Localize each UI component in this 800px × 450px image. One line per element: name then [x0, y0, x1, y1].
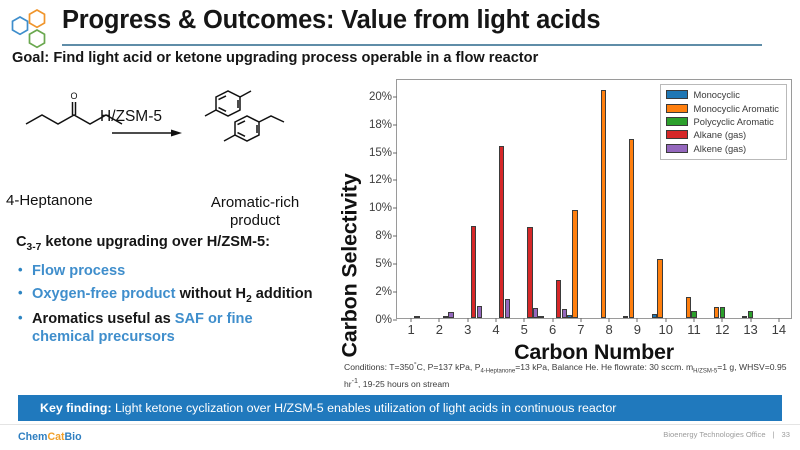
chart-bar: [629, 139, 634, 318]
body-heading-subscript: 3-7: [27, 242, 42, 253]
chart-bar: [556, 280, 561, 319]
chart-x-tick-mark: [694, 318, 695, 322]
chart-bar: [477, 306, 482, 318]
chart-bar: [414, 316, 419, 318]
bullet-marker-icon: •: [18, 310, 23, 327]
brand-chem: Chem: [18, 431, 47, 443]
chart-x-tick-label: 8: [606, 322, 613, 337]
footer-divider-glyph: |: [773, 430, 775, 439]
reaction-scheme: O H/: [4, 84, 324, 214]
goal-statement: Goal: Find light acid or ketone upgradin…: [12, 50, 792, 66]
conditions-sub-catalyst: H/ZSM-5: [693, 369, 717, 375]
chart-bar: [567, 315, 572, 318]
chart-x-tick-mark: [411, 318, 412, 322]
body-heading-pre: C: [16, 234, 27, 250]
chart-legend-label: Monocyclic Aromatic: [694, 103, 779, 114]
page-number: 33: [782, 430, 790, 439]
chart-x-tick-label: 9: [634, 322, 641, 337]
footer-brand: ChemCatBio: [18, 428, 82, 446]
chart-legend-swatch: [666, 117, 688, 126]
chart-legend-item: Polycyclic Aromatic: [666, 115, 779, 128]
chart-x-tick-label: 5: [521, 322, 528, 337]
chart-y-tick-mark: [393, 320, 397, 321]
bullet-marker-icon: •: [18, 262, 23, 279]
chart-x-tick-label: 11: [687, 322, 701, 337]
chart-x-tick-label: 4: [492, 322, 499, 337]
chart-bar: [572, 210, 577, 318]
chart-bar: [471, 226, 476, 318]
chart-y-tick-mark: [393, 264, 397, 265]
key-finding-body: Light ketone cyclization over H/ZSM-5 en…: [112, 401, 617, 415]
chart-bar: [601, 90, 606, 318]
chart-x-tick-label: 12: [715, 322, 729, 337]
chart-x-tick-label: 1: [408, 322, 415, 337]
chart-bar: [652, 314, 657, 318]
conditions-sub-heptanone: 4-Heptanone: [480, 369, 515, 375]
chart-legend-swatch: [666, 104, 688, 113]
brand-cat: Cat: [47, 431, 64, 443]
bullet-item: •Aromatics useful as SAF or fine chemica…: [16, 310, 316, 347]
key-finding-banner: Key finding: Light ketone cyclization ov…: [18, 395, 782, 421]
chart-y-tick-mark: [393, 236, 397, 237]
chart-x-tick-mark: [778, 318, 779, 322]
catalyst-label: H/ZSM-5: [100, 108, 162, 126]
bullet-list: •Flow process•Oxygen-free product withou…: [16, 262, 316, 351]
chart-bar: [714, 307, 719, 318]
chart-bar: [720, 307, 725, 318]
reactant-label: 4-Heptanone: [6, 192, 93, 209]
chart-legend-swatch: [666, 144, 688, 153]
chart-legend-swatch: [666, 90, 688, 99]
footer-office: Bioenergy Technologies Office: [663, 430, 765, 439]
chart-legend-label: Polycyclic Aromatic: [694, 116, 774, 127]
product-label: Aromatic-richproduct: [190, 194, 320, 229]
chart-x-tick-label: 13: [743, 322, 757, 337]
product-label-line2: product: [230, 212, 280, 229]
chart-x-tick-mark: [722, 318, 723, 322]
chart-x-tick-mark: [439, 318, 440, 322]
bullet-item: •Oxygen-free product without H2 addition: [16, 285, 316, 306]
bullet-text-segment: Oxygen-free product: [32, 286, 176, 302]
chart-x-tick-mark: [524, 318, 525, 322]
chart-y-tick-mark: [393, 96, 397, 97]
chart-legend-label: Alkene (gas): [694, 143, 747, 154]
brand-bio: Bio: [65, 431, 82, 443]
chart-bar: [538, 316, 543, 318]
slide-canvas: Progress & Outcomes: Value from light ac…: [0, 0, 800, 450]
chart-x-tick-label: 3: [464, 322, 471, 337]
chart-legend-label: Alkane (gas): [694, 129, 747, 140]
chart-y-tick-mark: [393, 124, 397, 125]
chart-y-tick-mark: [393, 208, 397, 209]
key-finding-text: Key finding: Light ketone cyclization ov…: [18, 401, 616, 415]
chart-y-tick-mark: [393, 180, 397, 181]
chart-bar: [499, 146, 504, 318]
title-underline-rule: [62, 44, 762, 46]
chart-y-tick-mark: [393, 292, 397, 293]
bullet-marker-icon: •: [18, 285, 23, 302]
chart-bar: [443, 316, 448, 318]
chart-y-axis-label: Carbon Selectivity: [339, 164, 361, 364]
key-finding-prefix: Key finding:: [40, 401, 112, 415]
chart-x-tick-mark: [637, 318, 638, 322]
chart-y-tick-mark: [393, 152, 397, 153]
chart-legend: MonocyclicMonocyclic AromaticPolycyclic …: [660, 84, 787, 160]
chart-x-tick-mark: [750, 318, 751, 322]
chart-x-tick-mark: [665, 318, 666, 322]
chart-x-tick-label: 2: [436, 322, 443, 337]
chart-legend-item: Alkene (gas): [666, 142, 779, 155]
page-title: Progress & Outcomes: Value from light ac…: [62, 6, 762, 35]
chart-bar: [748, 311, 753, 318]
footer-meta: Bioenergy Technologies Office | 33: [663, 430, 790, 439]
body-heading: C3-7 ketone upgrading over H/ZSM-5:: [16, 234, 316, 253]
chart-legend-label: Monocyclic: [694, 89, 740, 100]
chart-bar: [623, 316, 628, 318]
chart-legend-swatch: [666, 130, 688, 139]
carbon-selectivity-chart: Carbon Selectivity MonocyclicMonocyclic …: [333, 78, 795, 356]
bullet-text-segment: Flow process: [32, 263, 125, 279]
chart-x-tick-label: 10: [658, 322, 672, 337]
chart-x-tick-mark: [580, 318, 581, 322]
chart-legend-item: Monocyclic: [666, 88, 779, 101]
body-heading-post: ketone upgrading over H/ZSM-5:: [41, 234, 270, 250]
chart-bar: [505, 299, 510, 318]
chart-legend-item: Alkane (gas): [666, 128, 779, 141]
chart-x-tick-label: 6: [549, 322, 556, 337]
bullet-text-segment: addition: [252, 286, 313, 302]
chart-x-tick-mark: [552, 318, 553, 322]
bullet-item: •Flow process: [16, 262, 316, 281]
chart-bar: [448, 312, 453, 318]
chart-x-tick-mark: [496, 318, 497, 322]
footer-divider: [0, 424, 800, 425]
chart-x-tick-mark: [609, 318, 610, 322]
chart-x-tick-mark: [467, 318, 468, 322]
bullet-text-segment: without H: [176, 286, 247, 302]
chart-bar: [686, 297, 691, 318]
svg-text:O: O: [70, 91, 77, 101]
chart-legend-item: Monocyclic Aromatic: [666, 101, 779, 114]
chart-bar: [691, 311, 696, 318]
chart-plot-area: MonocyclicMonocyclic AromaticPolycyclic …: [396, 79, 792, 319]
chart-x-tick-label: 14: [772, 322, 786, 337]
chart-bar: [657, 259, 662, 318]
chart-bar: [527, 227, 532, 318]
bullet-text-segment: Aromatics useful as: [32, 311, 175, 327]
chart-x-tick-label: 7: [577, 322, 584, 337]
product-label-line1: Aromatic-rich: [211, 194, 299, 211]
chart-bar: [742, 316, 747, 318]
experimental-conditions: Conditions: T=350°C, P=137 kPa, P4-Hepta…: [344, 361, 796, 391]
